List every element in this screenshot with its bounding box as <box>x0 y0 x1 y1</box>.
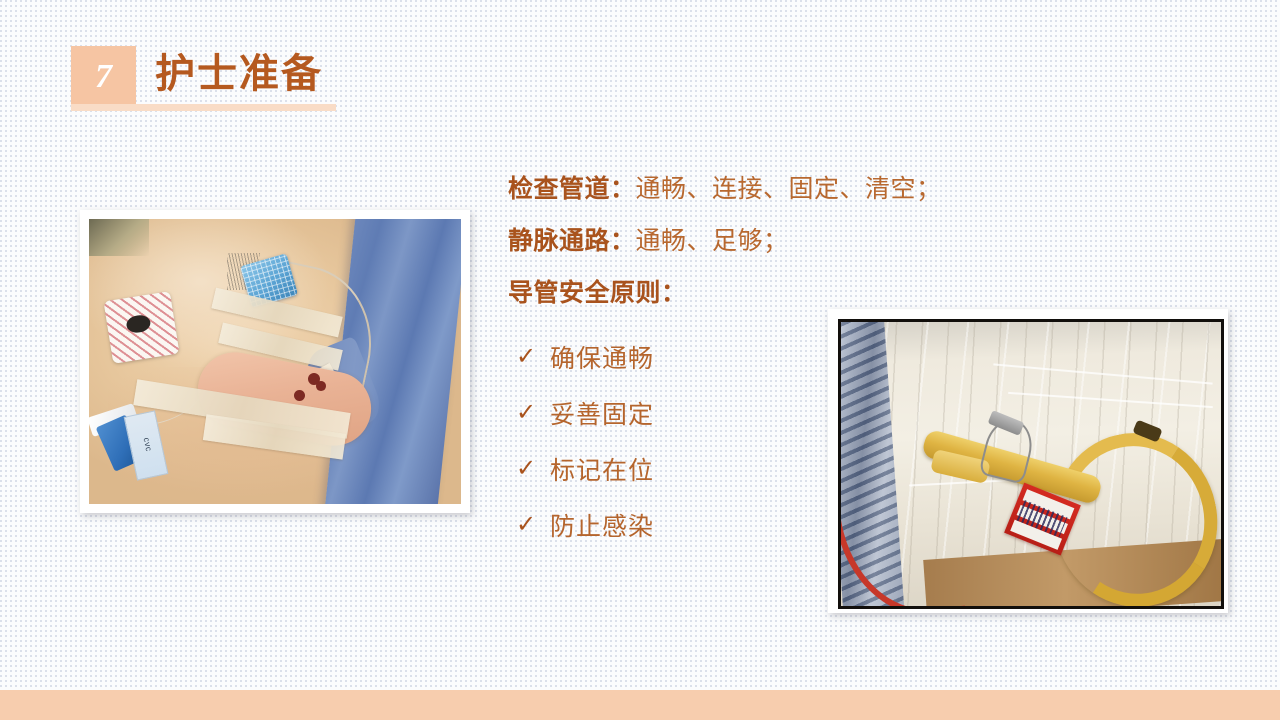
catheter-id-label-text: CVC <box>140 437 151 452</box>
check-icon: ✓ <box>516 457 550 481</box>
content-line-inspect-tubes: 检查管道：通畅、连接、固定、清空； <box>508 163 1108 215</box>
list-item-label: 防止感染 <box>550 507 654 543</box>
footer-bar <box>0 690 1280 720</box>
check-icon: ✓ <box>516 513 550 537</box>
list-item: ✓ 防止感染 <box>508 497 1108 553</box>
list-item: ✓ 确保通畅 <box>508 329 1108 385</box>
slide-header: 7 护士准备 <box>0 0 1280 130</box>
content-text-block: 检查管道：通畅、连接、固定、清空； 静脉通路：通畅、足够； 导管安全原则： ✓ … <box>508 163 1108 553</box>
catheter-safety-checklist: ✓ 确保通畅 ✓ 妥善固定 ✓ 标记在位 ✓ 防止感染 <box>508 329 1108 553</box>
content-line-rest: 通畅、连接、固定、清空； <box>636 175 942 203</box>
content-line-lead: 检查管道： <box>508 175 636 203</box>
list-item: ✓ 妥善固定 <box>508 385 1108 441</box>
slide-canvas: 7 护士准备 <box>0 0 1280 720</box>
list-item-label: 标记在位 <box>550 451 654 487</box>
slide-number-text: 7 <box>71 46 136 107</box>
blood-spot <box>294 390 305 401</box>
content-line-catheter-safety-heading: 导管安全原则： <box>508 267 1108 319</box>
content-line-lead: 导管安全原则： <box>508 279 687 307</box>
photo-corner-shadow <box>89 219 149 256</box>
slide-number-badge: 7 <box>71 46 136 107</box>
ecg-electrode-pad <box>103 291 179 363</box>
blood-spot <box>316 381 326 391</box>
check-icon: ✓ <box>516 345 550 369</box>
list-item-label: 确保通畅 <box>550 339 654 375</box>
list-item-label: 妥善固定 <box>550 395 654 431</box>
content-line-venous-access: 静脉通路：通畅、足够； <box>508 215 1108 267</box>
content-line-lead: 静脉通路： <box>508 227 636 255</box>
content-line-rest: 通畅、足够； <box>636 227 789 255</box>
check-icon: ✓ <box>516 401 550 425</box>
photo-left-frame: CVC <box>80 210 470 513</box>
list-item: ✓ 标记在位 <box>508 441 1108 497</box>
central-venous-catheter-site-photo: CVC <box>89 219 461 504</box>
title-underline-rule <box>71 104 336 111</box>
page-title: 护士准备 <box>155 45 323 103</box>
